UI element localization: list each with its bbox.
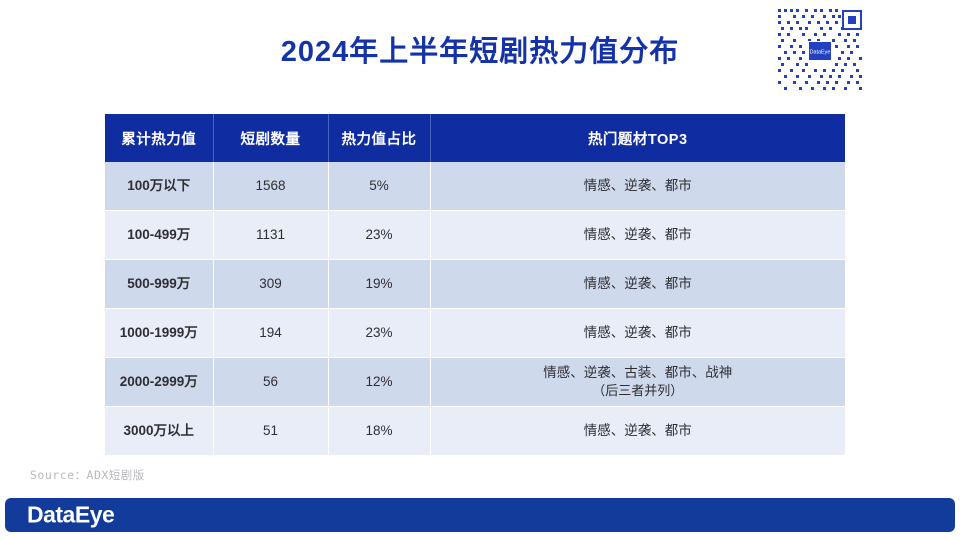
cell-range: 500-999万 <box>105 260 213 309</box>
topics-main: 情感、逆袭、古装、都市、战神 <box>543 365 732 380</box>
cell-count: 1131 <box>213 211 328 260</box>
cell-share: 5% <box>328 162 430 211</box>
cell-range: 3000万以上 <box>105 407 213 456</box>
table-row: 500-999万 309 19% 情感、逆袭、都市 <box>105 260 845 309</box>
column-header-range: 累计热力值 <box>105 114 213 162</box>
cell-range: 100万以下 <box>105 162 213 211</box>
topics-main: 情感、逆袭、都市 <box>584 325 692 340</box>
topics-main: 情感、逆袭、都市 <box>584 227 692 242</box>
cell-topics: 情感、逆袭、古装、都市、战神 （后三者并列） <box>430 358 845 407</box>
qr-center-logo: DataEye <box>808 41 832 61</box>
cell-topics: 情感、逆袭、都市 <box>430 309 845 358</box>
table-row: 100万以下 1568 5% 情感、逆袭、都市 <box>105 162 845 211</box>
column-header-share: 热力值占比 <box>328 114 430 162</box>
table-row: 1000-1999万 194 23% 情感、逆袭、都市 <box>105 309 845 358</box>
cell-share: 23% <box>328 309 430 358</box>
footer-bar: DataEye <box>5 498 955 532</box>
source-note: Source：ADX短剧版 <box>30 467 145 483</box>
topics-main: 情感、逆袭、都市 <box>584 178 692 193</box>
column-header-count: 短剧数量 <box>213 114 328 162</box>
cell-range: 1000-1999万 <box>105 309 213 358</box>
cell-range: 100-499万 <box>105 211 213 260</box>
cell-count: 51 <box>213 407 328 456</box>
topics-note: （后三者并列） <box>432 382 845 400</box>
table-row: 3000万以上 51 18% 情感、逆袭、都市 <box>105 407 845 456</box>
heat-distribution-table: 累计热力值 短剧数量 热力值占比 热门题材TOP3 100万以下 1568 5%… <box>105 114 845 456</box>
table-row: 100-499万 1131 23% 情感、逆袭、都市 <box>105 211 845 260</box>
topics-main: 情感、逆袭、都市 <box>584 276 692 291</box>
cell-range: 2000-2999万 <box>105 358 213 407</box>
cell-topics: 情感、逆袭、都市 <box>430 407 845 456</box>
cell-topics: 情感、逆袭、都市 <box>430 260 845 309</box>
topics-main: 情感、逆袭、都市 <box>584 423 692 438</box>
column-header-topics: 热门题材TOP3 <box>430 114 845 162</box>
svg-text:DataEye: DataEye <box>810 50 831 56</box>
cell-share: 23% <box>328 211 430 260</box>
cell-topics: 情感、逆袭、都市 <box>430 162 845 211</box>
cell-share: 18% <box>328 407 430 456</box>
qr-code[interactable]: DataEye <box>775 6 865 96</box>
table-header-row: 累计热力值 短剧数量 热力值占比 热门题材TOP3 <box>105 114 845 162</box>
cell-share: 12% <box>328 358 430 407</box>
table-row: 2000-2999万 56 12% 情感、逆袭、古装、都市、战神 （后三者并列） <box>105 358 845 407</box>
dataeye-logo: DataEye <box>27 502 114 529</box>
cell-share: 19% <box>328 260 430 309</box>
cell-count: 194 <box>213 309 328 358</box>
cell-topics: 情感、逆袭、都市 <box>430 211 845 260</box>
cell-count: 56 <box>213 358 328 407</box>
qr-finder-icon <box>842 10 862 30</box>
cell-count: 1568 <box>213 162 328 211</box>
cell-count: 309 <box>213 260 328 309</box>
